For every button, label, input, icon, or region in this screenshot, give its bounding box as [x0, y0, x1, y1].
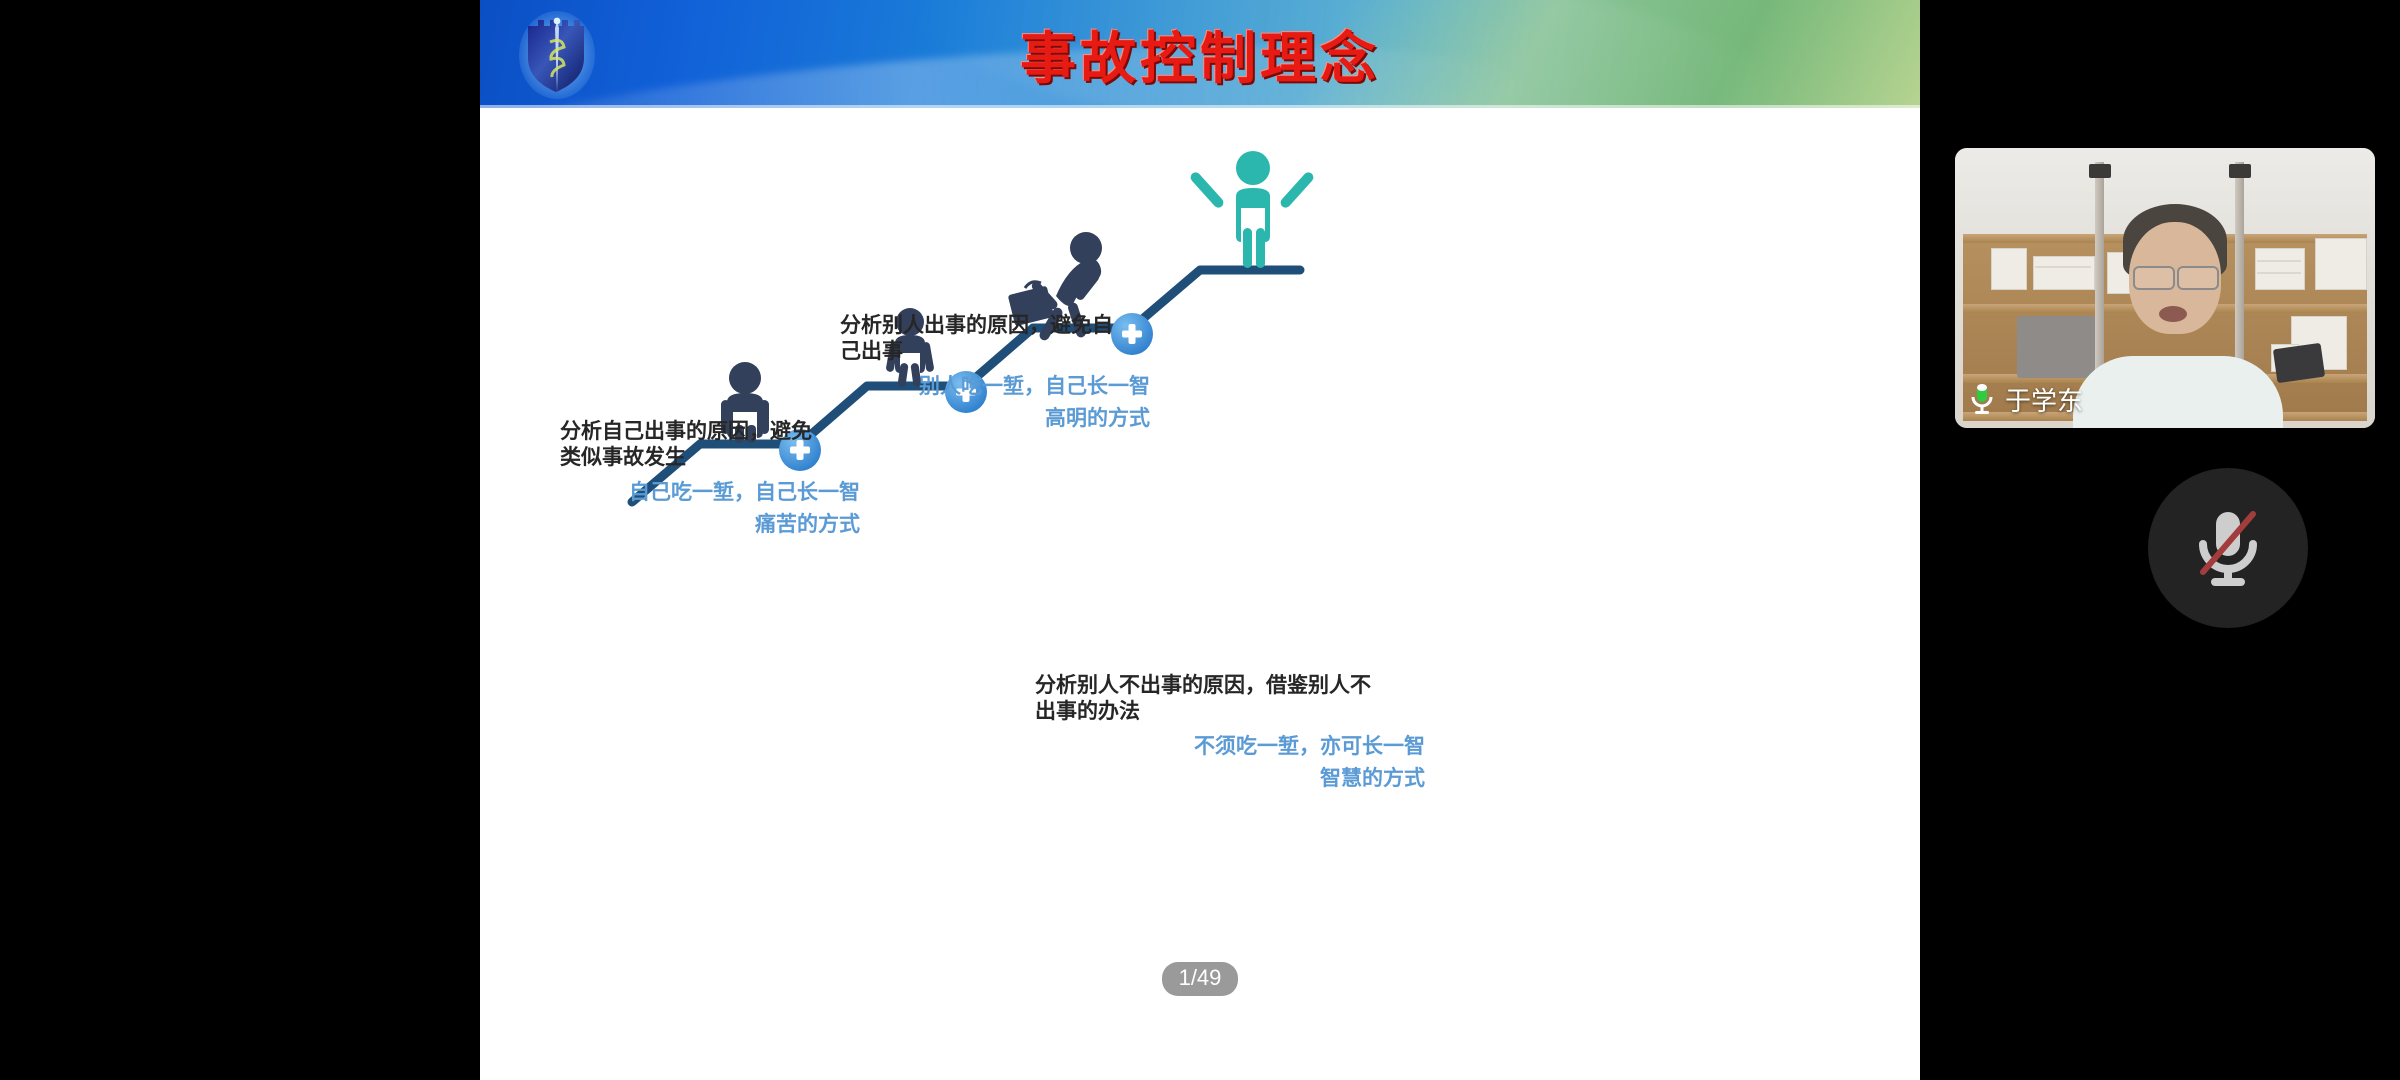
box-1	[1991, 248, 2027, 290]
block1-blue-line-1: 自己吃一堑，自己长一智	[560, 479, 860, 505]
books-3	[2315, 238, 2367, 290]
books-1	[2033, 256, 2095, 290]
microphone-muted-icon	[2189, 504, 2267, 592]
block2-blue-line-1: 别人吃一堑，自己长一智	[840, 373, 1150, 399]
block1-blue-line-2: 痛苦的方式	[560, 511, 860, 537]
participant-video-tile[interactable]: 于学东	[1955, 148, 2375, 428]
participant-name: 于学东	[2005, 381, 2083, 418]
glasses-right-lens	[2177, 266, 2219, 290]
slide-title-banner: 事故控制理念	[480, 0, 1920, 108]
block3-dark-line-1: 分析别人不出事的原因，借鉴别人不	[1035, 672, 1425, 698]
meeting-screen: 事故控制理念	[0, 0, 2400, 1080]
page-indicator[interactable]: 1/49	[1162, 962, 1238, 996]
text-block-others-accident: 分析别人出事的原因，避免自 己出事 别人吃一堑，自己长一智 高明的方式	[840, 312, 1150, 432]
binder-line-2	[2257, 272, 2301, 274]
block2-dark-line-2: 己出事	[840, 338, 1150, 364]
presentation-slide: 事故控制理念	[480, 0, 1920, 1080]
mute-toggle-button[interactable]	[2148, 468, 2308, 628]
mouth	[2159, 306, 2187, 322]
monitor	[2017, 316, 2095, 378]
celebrating-person-icon	[1189, 151, 1316, 268]
text-block-self-accident: 分析自己出事的原因，避免 类似事故发生 自己吃一堑，自己长一智 痛苦的方式	[560, 418, 860, 538]
binder-line-1	[2257, 260, 2301, 262]
microphone-active-icon	[1969, 382, 1995, 416]
text-block-others-no-accident: 分析别人不出事的原因，借鉴别人不 出事的办法 不须吃一堑，亦可长一智 智慧的方式	[1035, 672, 1425, 792]
block1-dark-line-1: 分析自己出事的原因，避免	[560, 418, 860, 444]
binder-stack	[2255, 248, 2305, 290]
staircase-diagram	[480, 120, 1920, 680]
block3-blue-line-1: 不须吃一堑，亦可长一智	[1035, 733, 1425, 759]
block3-dark-line-2: 出事的办法	[1035, 698, 1425, 724]
participant-name-bar: 于学东	[1955, 370, 2375, 428]
books-1-line	[2035, 266, 2091, 268]
block2-blue-line-2: 高明的方式	[840, 405, 1150, 431]
shelf-post-cap-left	[2089, 164, 2111, 178]
block2-dark-line-1: 分析别人出事的原因，避免自	[840, 312, 1150, 338]
block3-blue-line-2: 智慧的方式	[1035, 765, 1425, 791]
block1-dark-line-2: 类似事故发生	[560, 444, 860, 470]
glasses-left-lens	[2133, 266, 2175, 290]
shelf-post-cap-right	[2229, 164, 2251, 178]
page-title: 事故控制理念	[480, 0, 1920, 108]
